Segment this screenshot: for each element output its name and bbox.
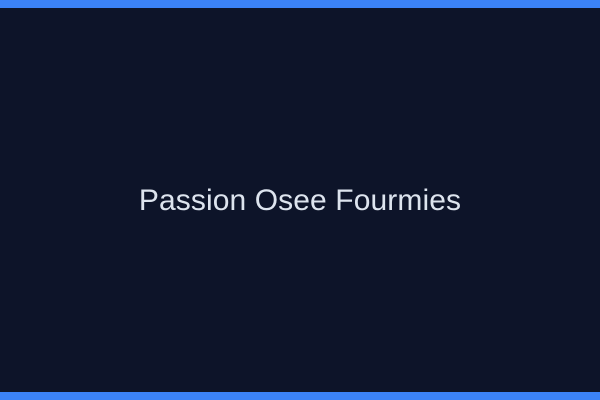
placeholder-image: Passion Osee Fourmies [0,0,600,400]
caption-container: Passion Osee Fourmies [0,0,600,400]
placeholder-caption: Passion Osee Fourmies [139,184,461,217]
